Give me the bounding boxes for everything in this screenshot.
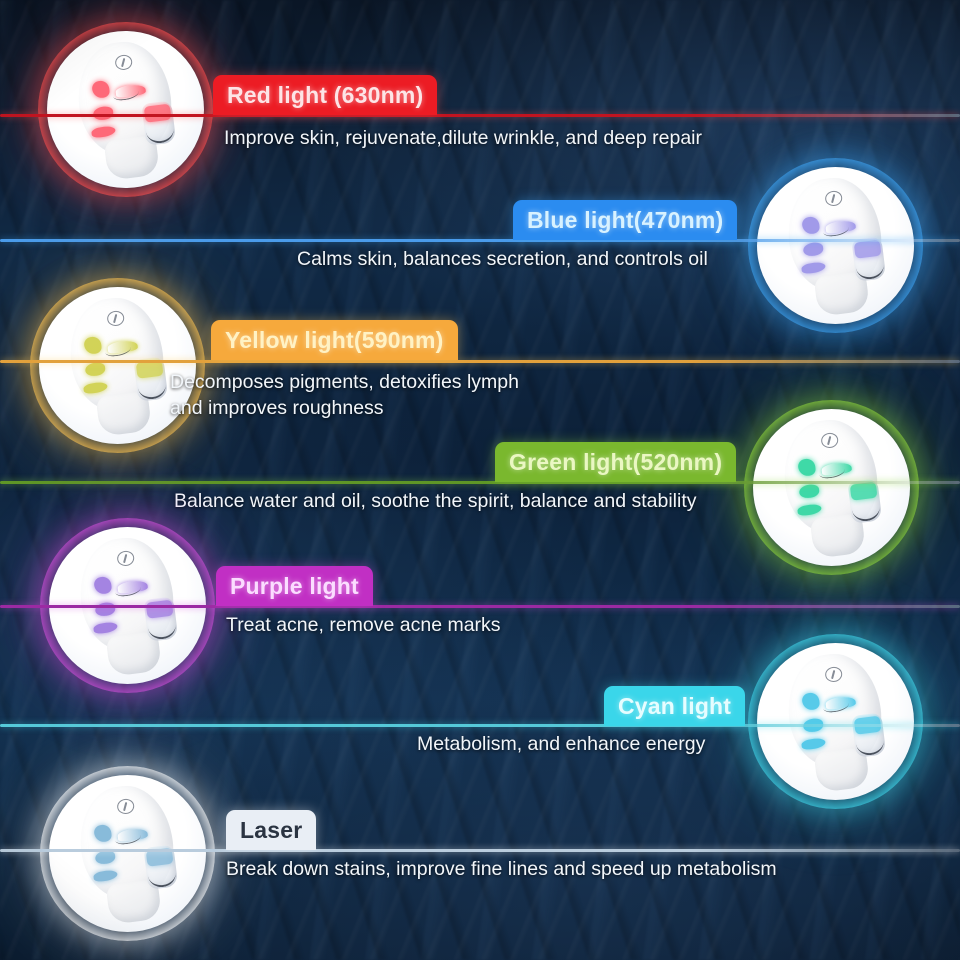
description-cyan: Metabolism, and enhance energy [417, 731, 705, 757]
divider-line-laser [0, 849, 960, 852]
description-red: Improve skin, rejuvenate,dilute wrinkle,… [224, 125, 702, 151]
divider-line-red [0, 114, 960, 117]
led-face-mask [68, 780, 188, 928]
divider-line-yellow [0, 360, 960, 363]
label-pill-purple[interactable]: Purple light [216, 566, 373, 606]
led-face-mask [66, 36, 186, 184]
label-pill-blue[interactable]: Blue light(470nm) [513, 200, 737, 240]
mask-image-yellow [30, 278, 205, 453]
mask-image-laser [40, 766, 215, 941]
infographic-canvas: Red light (630nm) Improve skin, rejuvena… [0, 0, 960, 960]
divider-line-cyan [0, 724, 960, 727]
label-pill-laser[interactable]: Laser [226, 810, 316, 850]
led-face-mask [58, 292, 178, 440]
mask-image-cyan [748, 634, 923, 809]
divider-line-blue [0, 239, 960, 242]
divider-line-green [0, 481, 960, 484]
led-face-mask [776, 172, 896, 320]
description-purple: Treat acne, remove acne marks [226, 612, 501, 638]
label-pill-red[interactable]: Red light (630nm) [213, 75, 437, 115]
label-pill-cyan[interactable]: Cyan light [604, 686, 745, 726]
description-laser: Break down stains, improve fine lines an… [226, 856, 777, 882]
mask-image-green [744, 400, 919, 575]
description-yellow: Decomposes pigments, detoxifies lymph an… [170, 369, 519, 421]
divider-line-purple [0, 605, 960, 608]
description-green: Balance water and oil, soothe the spirit… [174, 488, 696, 514]
mask-image-blue [748, 158, 923, 333]
label-pill-green[interactable]: Green light(520nm) [495, 442, 736, 482]
led-face-mask [776, 648, 896, 796]
mask-image-red [38, 22, 213, 197]
led-face-mask [772, 414, 892, 562]
label-pill-yellow[interactable]: Yellow light(590nm) [211, 320, 458, 360]
description-blue: Calms skin, balances secretion, and cont… [297, 246, 708, 272]
